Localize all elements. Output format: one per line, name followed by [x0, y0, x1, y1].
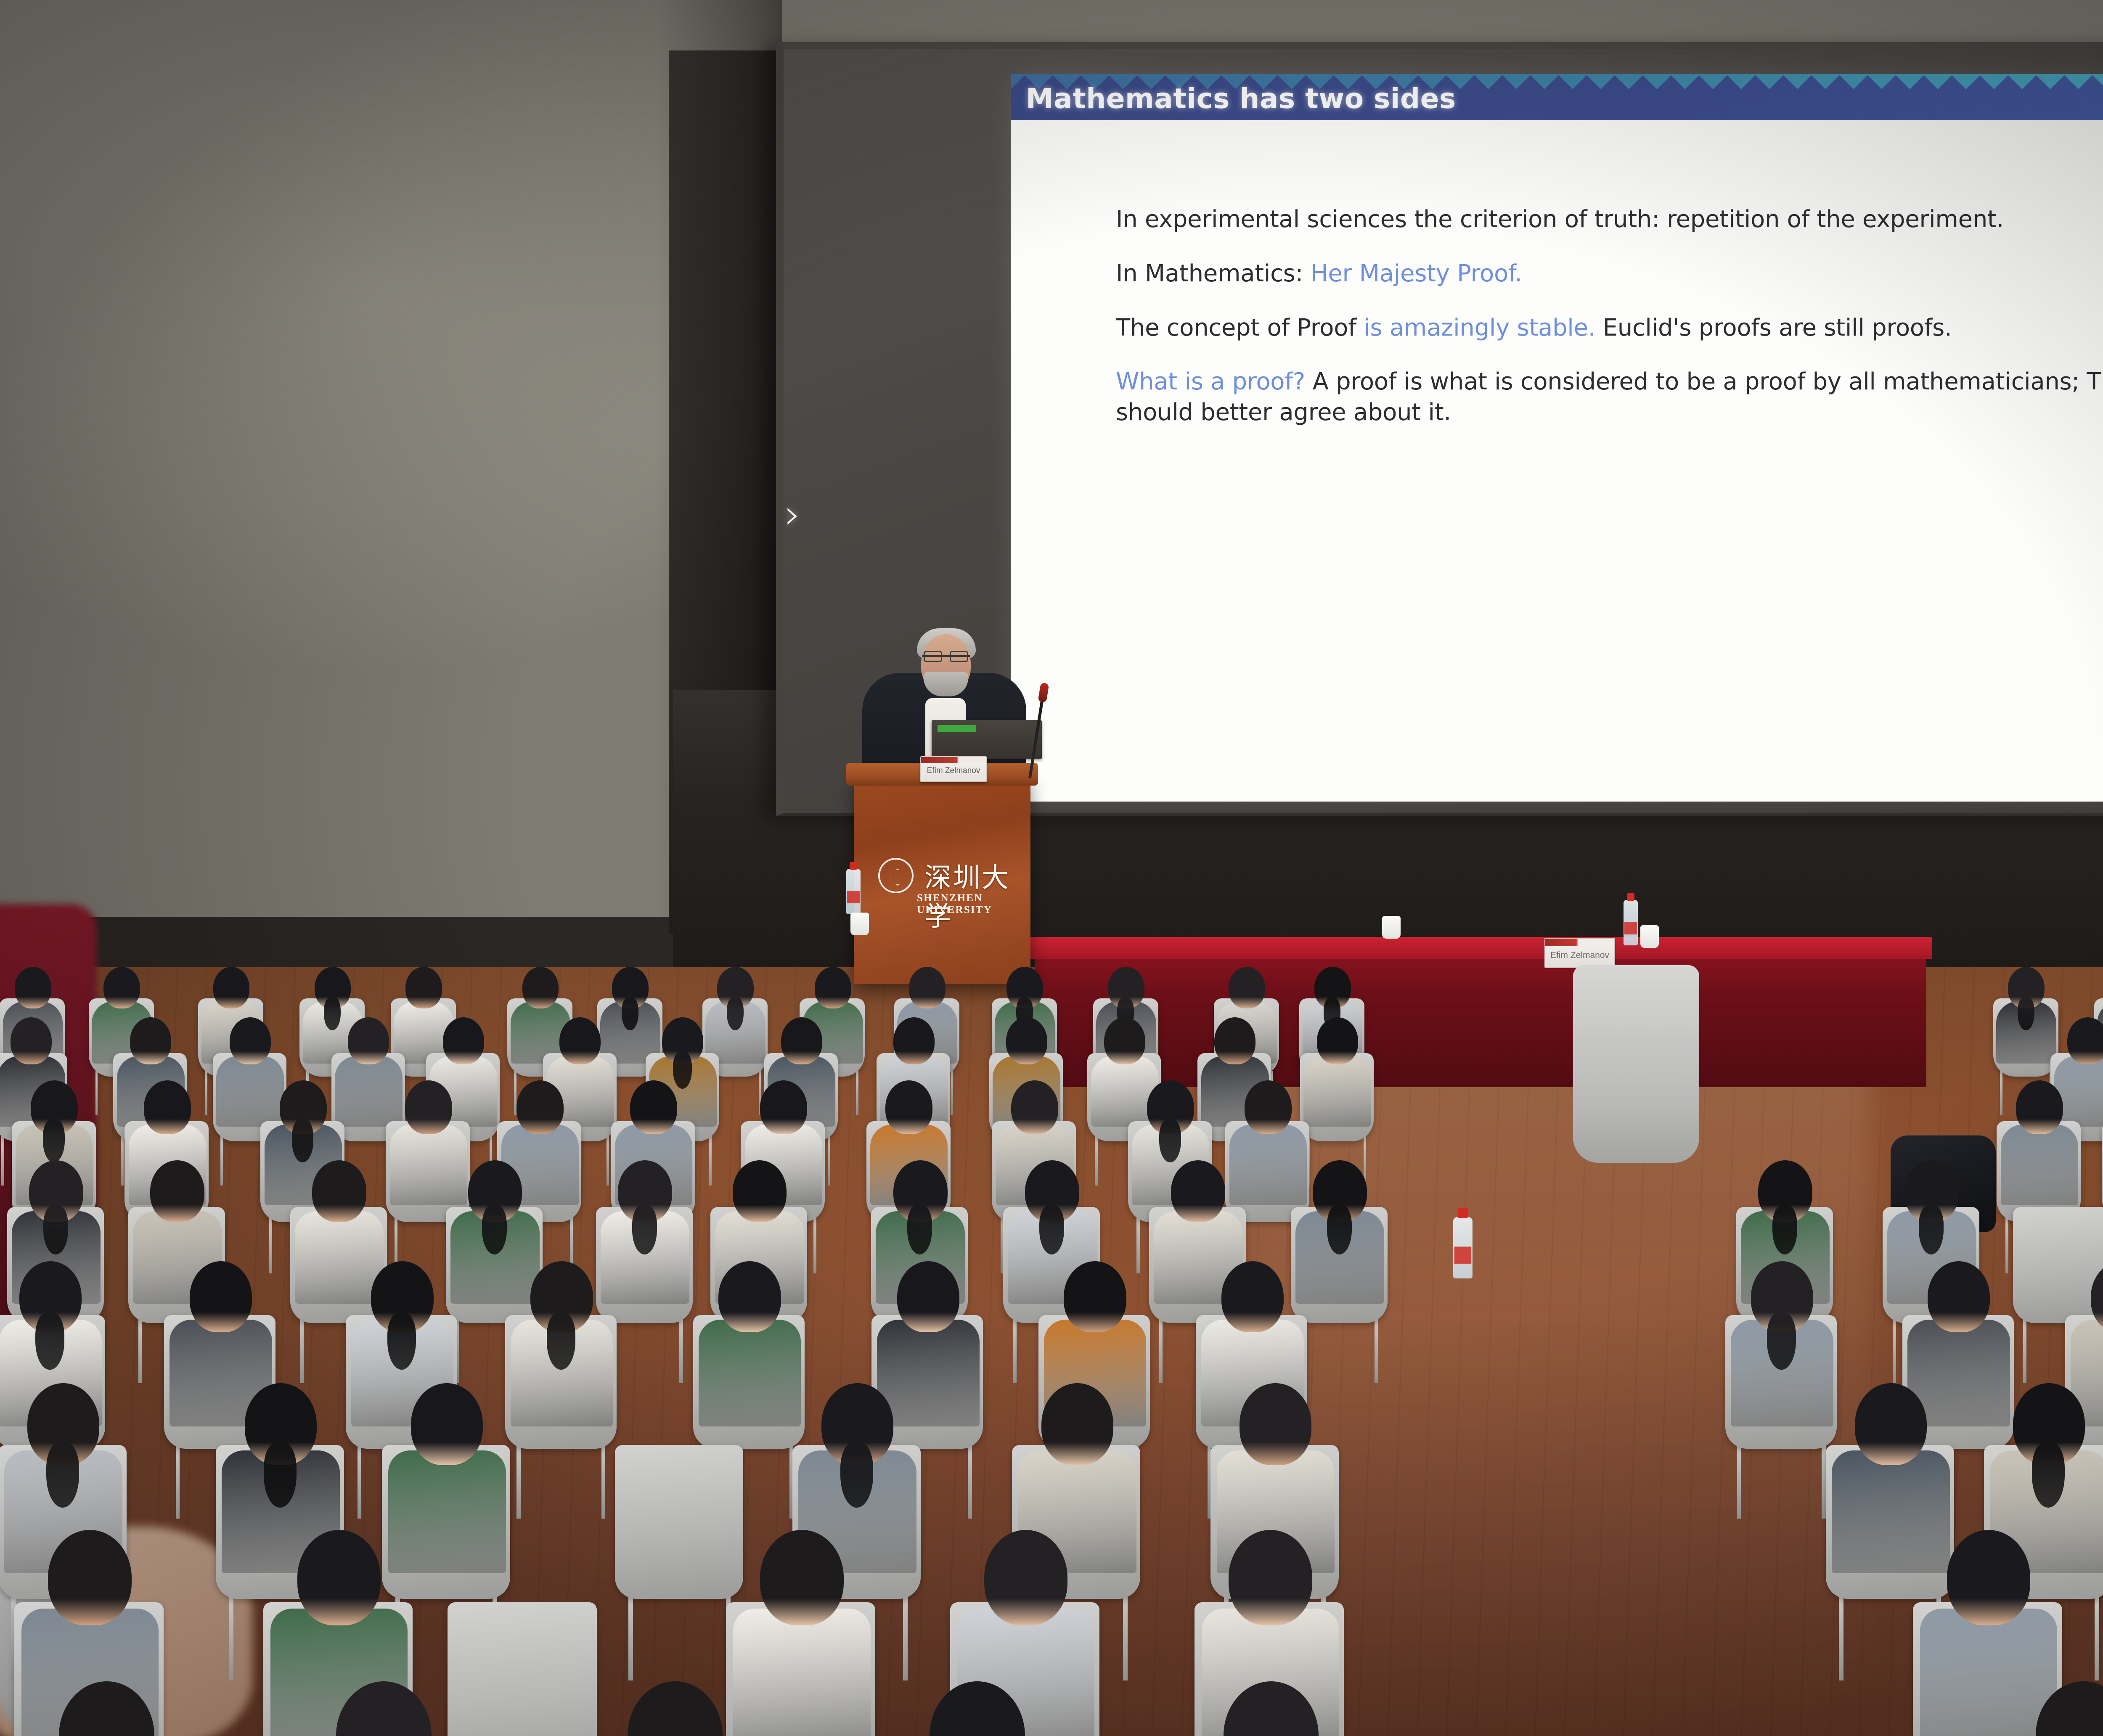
audience-chair	[448, 1602, 597, 1736]
audience-member-head	[1064, 1261, 1126, 1333]
audience-member-head	[559, 1017, 601, 1064]
chair-leg	[121, 1135, 123, 1186]
speaker-nameplate-text: Efim Zelmanov	[921, 766, 986, 775]
audience-member-head	[11, 1017, 52, 1064]
audience-member-body	[216, 1056, 284, 1127]
audience-member-head	[2016, 1080, 2063, 1134]
chair-leg	[903, 1593, 908, 1680]
water-bottle	[846, 869, 861, 914]
audience-member-head	[2067, 1017, 2103, 1064]
audience-member-ponytail	[264, 1442, 297, 1508]
nameplate-band	[1545, 939, 1614, 946]
audience-member-head	[1171, 1160, 1225, 1222]
paper-cup	[1640, 925, 1659, 948]
chair-leg	[628, 1593, 633, 1680]
audience-member-ponytail	[632, 1205, 657, 1254]
chair-leg	[1136, 1216, 1139, 1273]
audience-member-body	[877, 1320, 980, 1426]
chair-leg	[1375, 1317, 1378, 1383]
audience-member-head	[1855, 1383, 1927, 1465]
audience-member-head	[405, 967, 442, 1008]
audience-member-head	[411, 1383, 483, 1465]
audience-chair	[615, 1445, 743, 1599]
slide-text: The concept of Proof	[1116, 314, 1364, 341]
chair-leg	[679, 1317, 683, 1383]
eyeglasses-bridge	[922, 655, 970, 657]
audience-member-head	[760, 1080, 807, 1134]
audience-member-ponytail	[43, 1205, 68, 1254]
chair-leg	[2095, 1593, 2099, 1680]
stage-chair	[1573, 965, 1699, 1163]
audience-member-body	[2001, 1125, 2078, 1205]
audience-member-head	[1006, 1017, 1047, 1064]
water-bottle	[1453, 1217, 1473, 1278]
chair-leg	[300, 1317, 304, 1383]
audience-member-head	[1240, 1383, 1311, 1465]
speaker-nameplate: Efim Zelmanov	[920, 756, 987, 782]
audience-member-body	[390, 1125, 467, 1205]
audience-member-ponytail	[2032, 1442, 2065, 1508]
audience-member-head	[1229, 1530, 1312, 1625]
audience-member-ponytail	[1767, 1313, 1796, 1370]
seal-inner-hexagon	[889, 869, 906, 886]
audience-member-head	[103, 967, 140, 1008]
slide-text: Euclid's proofs are still proofs.	[1595, 314, 1952, 341]
chair-leg	[607, 1135, 609, 1186]
chair-leg	[1737, 1443, 1741, 1519]
audience-member-head	[909, 967, 946, 1008]
audience-member-head	[312, 1160, 366, 1222]
audience-member-ponytail	[1919, 1205, 1944, 1254]
audience-member-ponytail	[547, 1313, 575, 1370]
chair-leg	[2000, 1071, 2002, 1115]
slide-text: In Mathematics:	[1116, 260, 1311, 287]
table-nameplate: Efim Zelmanov	[1544, 938, 1615, 968]
audience-member-ponytail	[1327, 1205, 1352, 1254]
university-seal-icon	[878, 858, 914, 893]
audience-member-ponytail	[1159, 1119, 1181, 1162]
slide-body: In experimental sciences the criterion o…	[1116, 204, 2103, 452]
audience-member-head	[190, 1261, 252, 1333]
audience-member-ponytail	[43, 1119, 65, 1162]
audience-member-body	[1303, 1056, 1371, 1127]
chair-leg	[205, 1071, 207, 1115]
audience-member-head	[1947, 1530, 2031, 1625]
audience-member-body	[388, 1450, 506, 1574]
audience-member-body	[1920, 1609, 2058, 1736]
presenter-laptop	[932, 720, 1042, 759]
audience-member-ponytail	[727, 997, 744, 1030]
table-nameplate-text: Efim Zelmanov	[1545, 950, 1614, 961]
audience-member-ponytail	[1772, 1205, 1797, 1254]
slide-text-highlight: What is a proof?	[1116, 368, 1305, 395]
audience-member-head	[516, 1080, 564, 1134]
audience-member-head	[718, 1261, 781, 1333]
audience-member-head	[1928, 1261, 1990, 1333]
audience-member-head	[130, 1017, 171, 1064]
chair-leg	[2023, 1317, 2026, 1383]
audience-member-head	[1221, 1261, 1284, 1333]
chair-leg	[856, 1071, 858, 1115]
audience-member-head	[213, 967, 250, 1008]
stage-table-skirt	[1035, 944, 1926, 1087]
slide-text: In experimental sciences the criterion o…	[1116, 206, 2004, 233]
audience-member-head	[760, 1530, 844, 1625]
chair-leg	[1, 1135, 4, 1186]
paper-cup	[1382, 916, 1401, 939]
laptop-sticker-icon	[938, 725, 976, 732]
slide-text-highlight: Her Majesty Proof.	[1311, 260, 1522, 287]
audience-member-head	[897, 1261, 959, 1333]
chair-leg	[968, 1443, 972, 1519]
chair-leg	[1893, 1317, 1896, 1383]
audience-member-head	[893, 1017, 935, 1064]
audience-member-head	[230, 1017, 271, 1064]
audience-member-body	[335, 1056, 403, 1127]
chair-leg	[828, 1135, 830, 1186]
chair-leg	[1839, 1593, 1843, 1680]
chair-leg	[951, 1071, 953, 1115]
audience-member-ponytail	[673, 1051, 692, 1089]
audience-member-head	[1214, 1017, 1255, 1064]
university-name-en: SHENZHEN UNIVERSITY	[917, 892, 1030, 916]
chair-leg	[2005, 1216, 2008, 1273]
audience-member-head	[150, 1160, 204, 1222]
audience-member-head	[885, 1080, 932, 1134]
slide-paragraph: In Mathematics: Her Majesty Proof.	[1116, 259, 2103, 289]
audience-member-head	[1229, 967, 1265, 1008]
chair-leg	[709, 1135, 712, 1186]
slide-title-bar: Mathematics has two sides	[1011, 74, 2103, 120]
slide-title: Mathematics has two sides	[1026, 82, 1456, 115]
chair-leg	[229, 1593, 233, 1680]
audience-member-ponytail	[292, 1119, 314, 1162]
audience-member-head	[297, 1530, 381, 1625]
audience-member-ponytail	[2018, 997, 2034, 1030]
audience-member-head	[815, 967, 851, 1008]
chair-leg	[138, 1317, 142, 1383]
audience-member-head	[443, 1017, 484, 1064]
stage-table-top	[1030, 937, 1932, 959]
slide-text-highlight: is amazingly stable.	[1364, 314, 1595, 341]
slide-paragraph: What is a proof? A proof is what is cons…	[1116, 367, 2103, 428]
chair-leg	[1123, 1593, 1128, 1680]
audience-member-head	[1245, 1080, 1292, 1134]
presentation-slide: Mathematics has two sides In experimenta…	[1011, 74, 2103, 802]
chair-leg	[358, 1443, 362, 1519]
chair-leg	[1095, 1135, 1097, 1186]
audience-member-head	[1041, 1383, 1113, 1465]
audience-member-head	[781, 1017, 822, 1064]
chair-leg	[1159, 1317, 1163, 1383]
audience-member-head	[144, 1080, 191, 1134]
paper-cup	[850, 913, 869, 935]
lecture-hall-photo: Mathematics has two sides In experimenta…	[0, 0, 2103, 1736]
audience-member-ponytail	[622, 997, 638, 1030]
chair-leg	[269, 1216, 272, 1273]
audience-member-ponytail	[324, 997, 341, 1030]
audience-member-body	[295, 1211, 384, 1304]
audience-member-head	[630, 1080, 677, 1134]
audience-member-head	[1104, 1017, 1145, 1064]
chair-leg	[1013, 1317, 1017, 1383]
audience-member-head	[15, 967, 51, 1008]
chair-leg	[176, 1443, 180, 1519]
audience-member-head	[1317, 1017, 1358, 1064]
audience-member-ponytail	[387, 1313, 416, 1370]
audience-member-body	[699, 1320, 801, 1426]
audience-member-head	[48, 1530, 132, 1625]
audience-member-ponytail	[35, 1313, 64, 1370]
audience-member-body	[733, 1609, 871, 1736]
chair-leg	[1822, 1443, 1826, 1519]
chair-leg	[220, 1135, 223, 1186]
chair-leg	[813, 1216, 816, 1273]
chair-leg	[601, 1443, 606, 1519]
audience-member-ponytail	[1039, 1205, 1064, 1254]
chair-leg	[95, 1071, 98, 1115]
chair-leg	[516, 1443, 521, 1519]
audience-member-head	[984, 1530, 1068, 1625]
lectern: Efim Zelmanov 深圳大学 SHENZHEN UNIVERSITY	[854, 774, 1030, 984]
audience-member-ponytail	[907, 1205, 932, 1254]
audience-member-body	[1832, 1450, 1950, 1574]
audience-member-head	[1011, 1080, 1058, 1134]
audience-member-body	[1229, 1125, 1307, 1205]
audience-member-ponytail	[840, 1442, 874, 1508]
audience-member-ponytail	[46, 1442, 79, 1508]
audience-chair	[2013, 1207, 2103, 1323]
audience-member-ponytail	[482, 1205, 507, 1254]
water-bottle	[1624, 900, 1638, 945]
audience-member-head	[405, 1080, 452, 1134]
slide-paragraph: In experimental sciences the criterion o…	[1116, 204, 2103, 235]
next-slide-chevron-icon[interactable]: ›	[784, 494, 800, 535]
audience-member-head	[348, 1017, 389, 1064]
slide-paragraph: The concept of Proof is amazingly stable…	[1116, 313, 2103, 344]
audience-member-head	[733, 1160, 787, 1222]
audience-member-head	[522, 967, 559, 1008]
nameplate-band	[921, 757, 986, 763]
